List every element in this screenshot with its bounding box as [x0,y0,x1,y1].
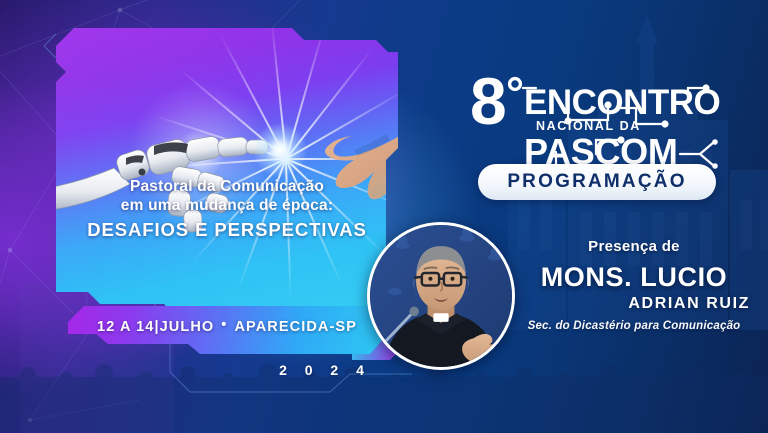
location-label: APARECIDA-SP [234,319,357,335]
speaker-portrait [367,222,515,370]
programacao-badge[interactable]: PROGRAMAÇÃO [478,164,716,200]
theme-line-3: DESAFIOS E PERSPECTIVAS [56,219,398,242]
theme-text: Pastoral da Comunicação em uma mudança d… [56,178,398,241]
date-range: 12 A 14 [97,319,154,335]
programacao-label: PROGRAMAÇÃO [507,171,686,193]
speaker-block: Presença de MONS. LUCIO ADRIAN RUIZ Sec.… [500,238,768,332]
svg-text:8: 8 [470,64,507,138]
year-label: 2 0 2 4 [255,362,395,378]
event-poster: Pastoral da Comunicação em uma mudança d… [0,0,768,433]
event-logo-svg: 8 ENCONTRO NACIONAL DA PASCOM [468,62,730,170]
date-location-text: 12 A 14|JULHO•APARECIDA-SP [97,319,357,335]
theme-line-1: Pastoral da Comunicação [56,178,398,197]
speaker-role: Sec. do Dicastério para Comunicação [500,320,768,332]
theme-line-2: em uma mudança de época: [56,197,398,216]
speaker-portrait-image [370,225,512,367]
speaker-surname: ADRIAN RUIZ [500,295,768,313]
hero-panel [56,28,398,316]
speaker-intro: Presença de [500,238,768,255]
month-label: JULHO [160,319,215,335]
spark-icon [253,123,307,177]
event-logo: 8 ENCONTRO NACIONAL DA PASCOM [468,62,730,170]
bullet-icon: • [221,317,227,333]
speaker-name: MONS. LUCIO [500,262,768,293]
